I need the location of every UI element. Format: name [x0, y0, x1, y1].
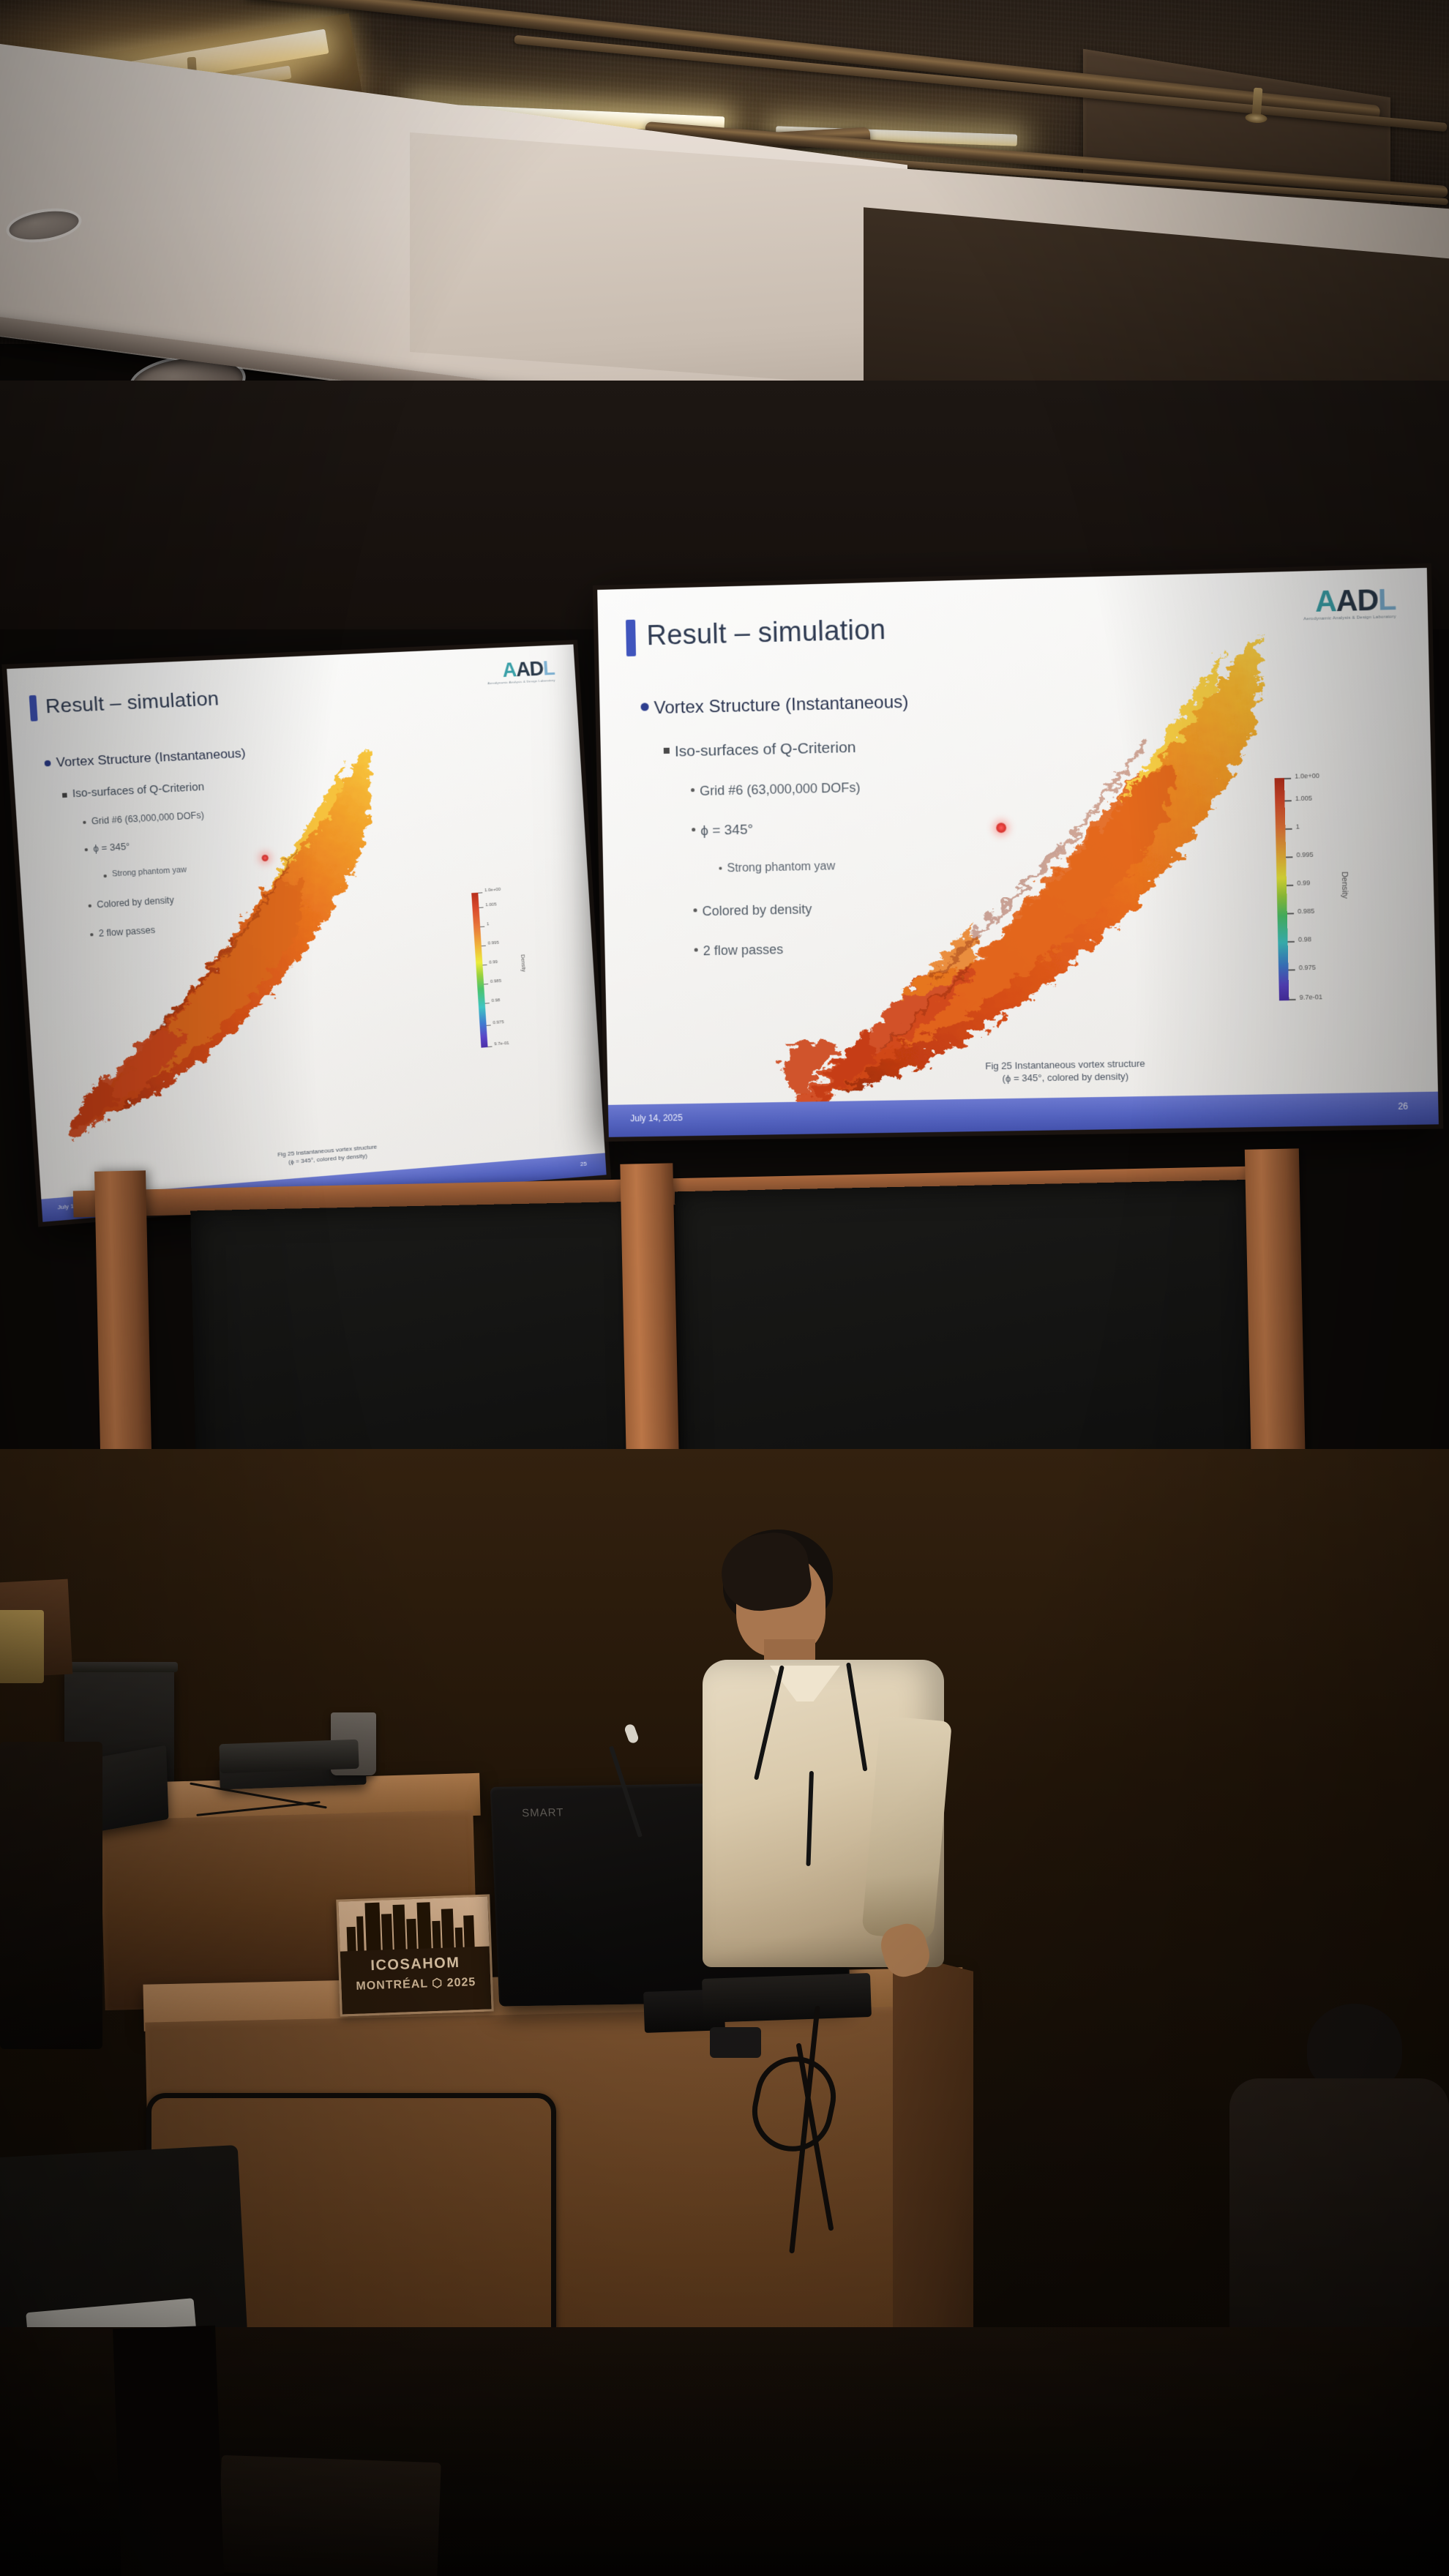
bullet-marker-icon — [640, 703, 648, 711]
slide-footer-bar: July 14, 2025 26 — [608, 1092, 1439, 1137]
colorbar-tick-label: 1.005 — [485, 902, 496, 907]
colorbar-title: Density — [520, 954, 525, 972]
aadl-logo: AADL Aerodynamic Analysis & Design Labor… — [1303, 585, 1396, 621]
colorbar-tick-label: 0.995 — [488, 941, 499, 946]
trash-bin-lid — [61, 1662, 178, 1672]
projection-screen-left: Result – simulation AADL Aerodynamic Ana… — [1, 640, 611, 1227]
footer-date: July 14, 2025 — [630, 1112, 683, 1123]
aadl-wordmark: AADL — [1303, 585, 1396, 617]
bullet-marker-icon — [692, 828, 695, 831]
slide-title: Result – simulation — [45, 687, 220, 719]
colorbar-tick-label: 0.975 — [1299, 964, 1316, 972]
colorbar-tick-label: 1.0e+00 — [484, 888, 501, 893]
lecture-hall-scene: Result – simulation AADL Aerodynamic Ana… — [0, 0, 1449, 2576]
title-accent-bar — [626, 620, 636, 656]
icosahom-conference-sign: ICOSAHOM MONTRÉAL ⬡ 2025 — [336, 1894, 493, 2016]
colorbar-tick-label: 0.99 — [489, 960, 498, 965]
bullet-marker-icon — [664, 748, 670, 754]
floor-object — [217, 2455, 441, 2576]
colorbar-tick-label: 1.005 — [1295, 794, 1312, 802]
bullet-text: ϕ = 345° — [700, 822, 753, 839]
slide-number: 26 — [1398, 1101, 1408, 1111]
slide-number: 25 — [580, 1161, 587, 1168]
bullet-marker-icon — [691, 788, 694, 792]
colorbar-tick — [478, 892, 482, 893]
colorbar-tick-label: 0.975 — [493, 1020, 503, 1025]
bullet-item: ϕ = 345° — [692, 822, 753, 839]
colorbar-tick-label: 9.7e-01 — [1300, 993, 1323, 1001]
foreground-equipment — [0, 1742, 102, 2049]
colorbar-title: Density — [1340, 872, 1349, 899]
slide-left: Result – simulation AADL Aerodynamic Ana… — [7, 645, 606, 1222]
projection-screen-right: Result – simulation AADL Aerodynamic Ana… — [593, 563, 1443, 1142]
bullet-marker-icon — [694, 948, 698, 951]
colorbar-tick-label: 0.98 — [1298, 935, 1311, 943]
colorbar-tick-label: 9.7e-01 — [494, 1041, 509, 1047]
vortex-structure-visualization — [745, 624, 1290, 1107]
wooden-chair — [0, 1610, 44, 1683]
cable-run — [113, 2326, 224, 2576]
colorbar-tick-label: 0.985 — [1298, 907, 1314, 916]
monitor-brand-label: SMART — [522, 1806, 564, 1819]
colorbar-tick-label: 0.995 — [1296, 851, 1313, 859]
av-control-box[interactable] — [219, 1740, 359, 1774]
aadl-logo: AADL Aerodynamic Analysis & Design Labor… — [486, 659, 555, 685]
colorbar-tick-label: 0.98 — [491, 998, 500, 1003]
bullet-marker-icon — [693, 908, 697, 912]
vortex-structure-visualization — [35, 742, 412, 1147]
sign-line-2: MONTRÉAL ⬡ 2025 — [341, 1974, 491, 1993]
aadl-wordmark: AADL — [486, 659, 555, 681]
colorbar-tick-label: 1 — [487, 922, 490, 926]
colorbar-tick-label: 1 — [1296, 823, 1300, 830]
sign-line-1: ICOSAHOM — [340, 1953, 490, 1975]
colorbar-tick-label: 1.0e+00 — [1295, 772, 1319, 780]
bullet-marker-icon — [719, 866, 722, 869]
presenter-person — [688, 1529, 944, 2056]
colorbar-tick-label: 0.99 — [1297, 879, 1310, 887]
sign-text-panel: ICOSAHOM MONTRÉAL ⬡ 2025 — [340, 1946, 492, 2014]
title-accent-bar — [29, 695, 38, 722]
colorbar-tick-label: 0.985 — [490, 979, 501, 984]
slide-right: Result – simulation AADL Aerodynamic Ana… — [597, 568, 1439, 1137]
colorbar-legend: 1.0e+00 1.005 1 0.995 0.99 0.985 0.98 0.… — [1275, 776, 1393, 1023]
colorbar-gradient — [471, 893, 487, 1048]
colorbar-legend: 1.0e+00 1.005 1 0.995 0.99 0.985 0.98 0.… — [471, 888, 563, 1062]
